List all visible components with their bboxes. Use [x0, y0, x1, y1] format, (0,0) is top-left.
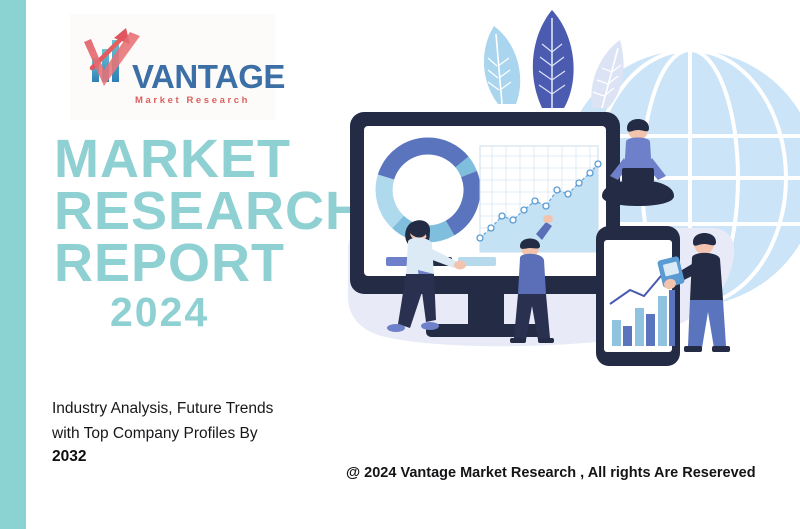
subtitle-line-1: Industry Analysis, Future Trends — [52, 396, 342, 421]
headline-line-1: MARKET — [54, 134, 344, 186]
headline-line-2: RESEARCH — [54, 186, 344, 238]
smartphone-icon — [596, 226, 680, 366]
vantage-logo[interactable]: VANTAGE Market Research — [70, 14, 275, 120]
subtitle-line-2: with Top Company Profiles By — [52, 421, 342, 446]
leaf-light-blue-icon — [484, 26, 520, 104]
headline-line-3: REPORT — [54, 238, 344, 290]
vantage-wordmark: VANTAGE — [132, 60, 285, 93]
business-analytics-illustration — [330, 8, 800, 388]
copyright-footer: @ 2024 Vantage Market Research , All rig… — [346, 465, 756, 481]
subtitle-block: Industry Analysis, Future Trends with To… — [52, 396, 342, 466]
headline-year: 2024 — [54, 289, 344, 332]
market-research-report-poster: VANTAGE Market Research MARKET RESEARCH … — [0, 0, 800, 529]
leaf-indigo-icon — [533, 10, 574, 108]
page-title: MARKET RESEARCH REPORT 2024 — [54, 134, 344, 333]
left-accent-stripe — [0, 0, 26, 529]
vantage-tagline: Market Research — [135, 96, 250, 106]
subtitle-year: 2032 — [52, 448, 342, 466]
